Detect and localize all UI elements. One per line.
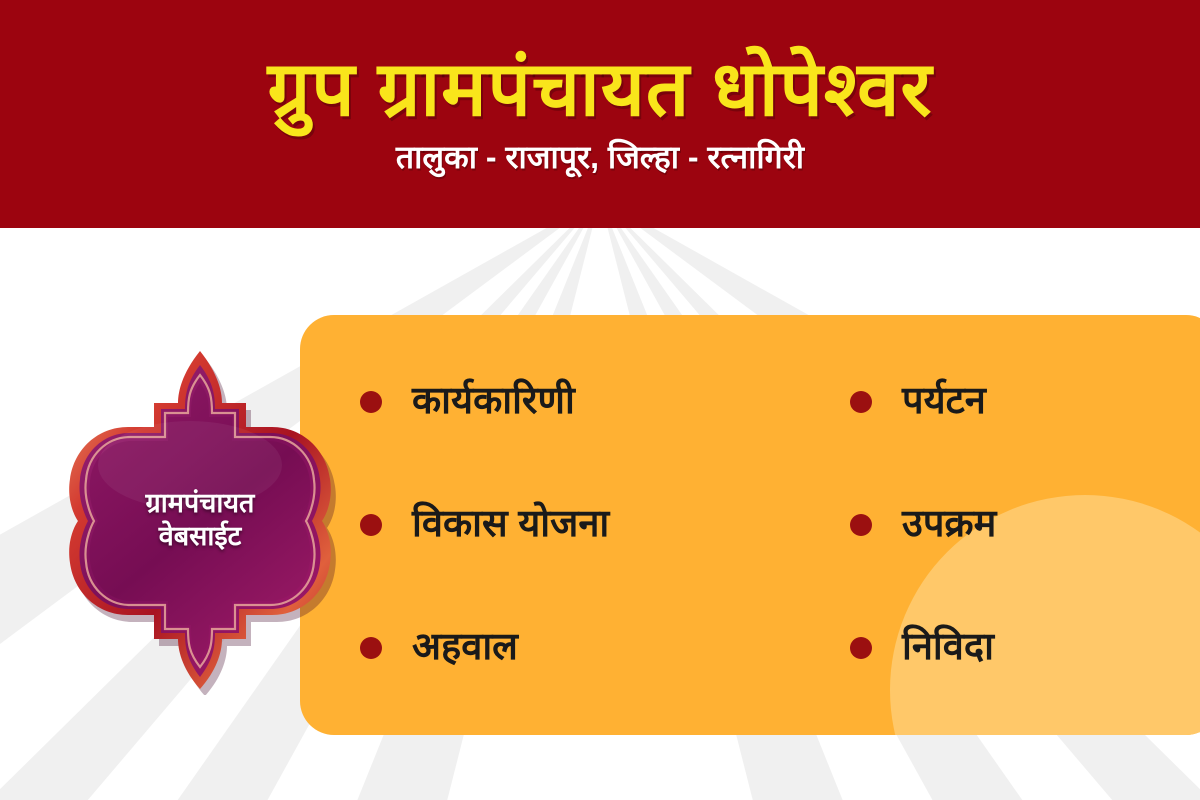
- menu-item-label: कार्यकारिणी: [412, 380, 575, 424]
- menu-item-nivida[interactable]: निविदा: [790, 586, 1200, 709]
- page-title: ग्रुप ग्रामपंचायत धोपेश्वर: [247, 50, 952, 130]
- menu-item-label: अहवाल: [412, 626, 518, 670]
- bullet-icon: [360, 514, 382, 536]
- bullet-icon: [360, 637, 382, 659]
- menu-item-label: विकास योजना: [412, 503, 609, 547]
- menu-item-label: निविदा: [902, 626, 994, 670]
- menu-item-label: पर्यटन: [902, 380, 986, 424]
- menu-item-paryatan[interactable]: पर्यटन: [790, 341, 1200, 464]
- menu-item-karyakarini[interactable]: कार्यकारिणी: [360, 341, 790, 464]
- menu-item-upkram[interactable]: उपक्रम: [790, 464, 1200, 587]
- page-subtitle: तालुका - राजापूर, जिल्हा - रत्नागिरी: [396, 135, 804, 178]
- gram-panchayat-website-badge[interactable]: ग्रामपंचायत वेबसाईट: [40, 345, 360, 695]
- bullet-icon: [360, 391, 382, 413]
- menu-item-label: उपक्रम: [902, 503, 996, 547]
- menu-item-vikas-yojana[interactable]: विकास योजना: [360, 464, 790, 587]
- bullet-icon: [850, 391, 872, 413]
- header-banner: ग्रुप ग्रामपंचायत धोपेश्वर तालुका - राजा…: [0, 0, 1200, 228]
- menu-item-ahwal[interactable]: अहवाल: [360, 586, 790, 709]
- poster-root: ग्रुप ग्रामपंचायत धोपेश्वर तालुका - राजा…: [0, 0, 1200, 800]
- menu-list: कार्यकारिणी पर्यटन विकास योजना उपक्रम अह…: [300, 315, 1200, 735]
- bullet-icon: [850, 514, 872, 536]
- bullet-icon: [850, 637, 872, 659]
- menu-card: कार्यकारिणी पर्यटन विकास योजना उपक्रम अह…: [300, 315, 1200, 735]
